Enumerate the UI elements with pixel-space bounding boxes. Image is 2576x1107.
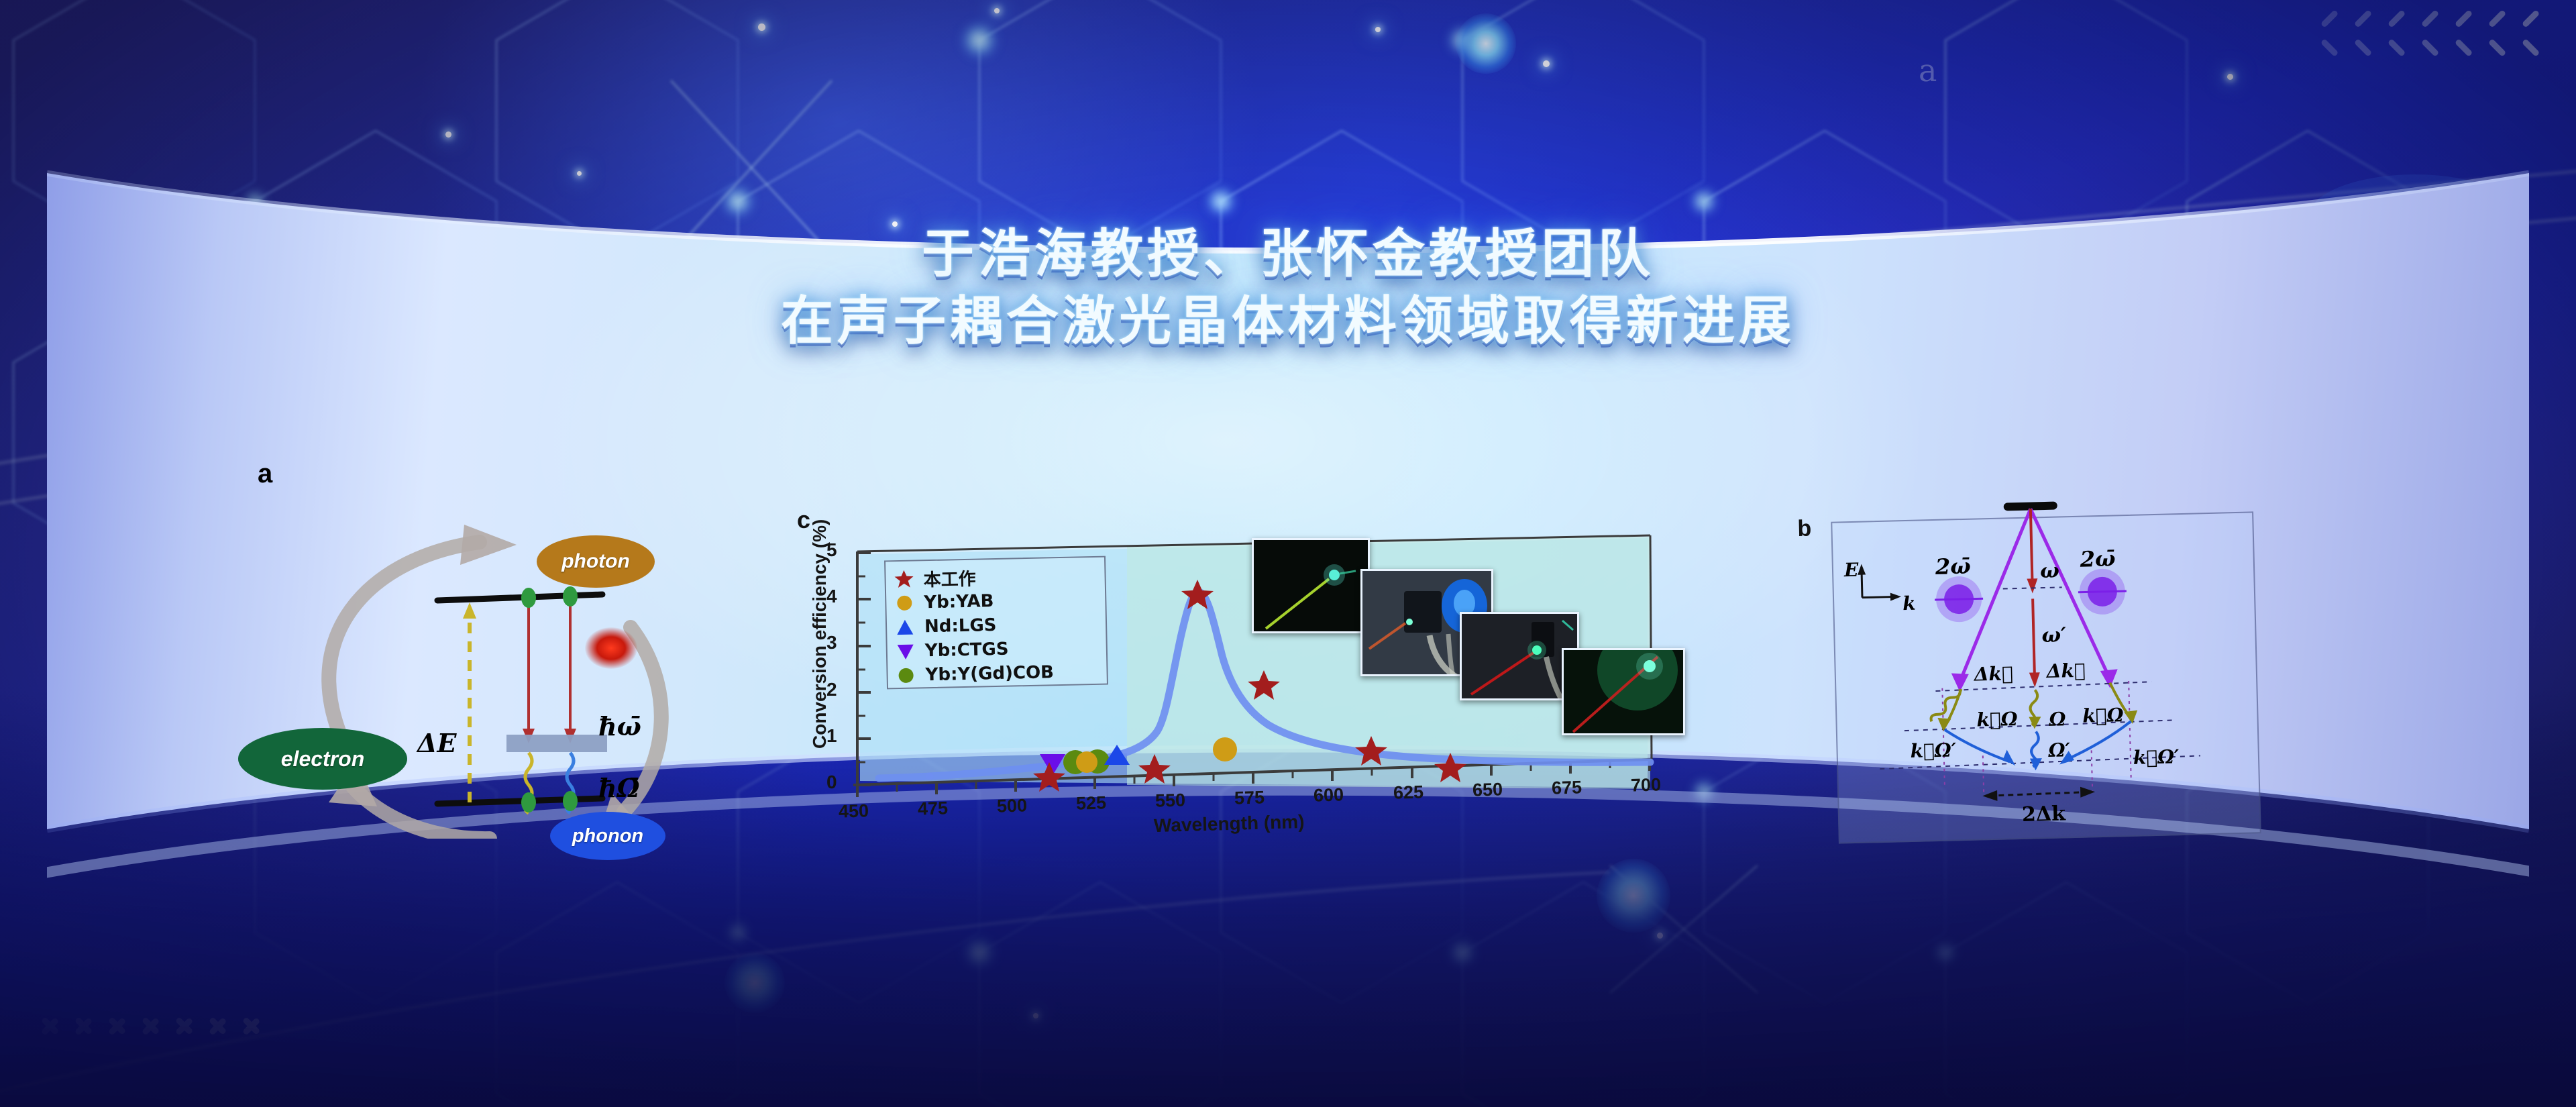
star-marker-icon (894, 569, 914, 590)
chevron-left-icon (2387, 15, 2410, 54)
sparkle (1033, 1013, 1038, 1018)
panel-b-omega: ω (2040, 559, 2059, 583)
chevron-left-icon (2487, 15, 2510, 54)
x-tick-575: 575 (1234, 787, 1265, 808)
panel-a: a (201, 463, 724, 839)
chevron-row-top-right (2320, 15, 2544, 54)
x-tick-675: 675 (1552, 777, 1582, 798)
delta-e-label: ΔE (417, 728, 456, 758)
glow-node (724, 953, 785, 1013)
x-tick-600: 600 (1313, 784, 1344, 806)
chart-x-axis-label: Wavelength (nm) (1154, 811, 1305, 837)
y-tick-4: 4 (826, 586, 837, 607)
triangle-up-marker-icon (895, 617, 916, 638)
panel-b-2omega-left: 2ω̄ (1935, 553, 1971, 580)
panel-b-k-OmegaPrime-right: k⃖Ω′ (2133, 745, 2180, 769)
photon-ellipse-label: photon (537, 535, 655, 588)
panel-b-axis-k: k (1902, 592, 1916, 615)
glow-node (1597, 859, 1670, 933)
y-tick-3: 3 (826, 632, 837, 653)
chart-legend: 本工作 Yb:YAB Nd:LGS Yb:CTGS Yb:Y(G (884, 556, 1108, 690)
ghost-panel-letter-a: a (1919, 52, 1937, 89)
chevron-right-icon (141, 1008, 164, 1047)
sparkle (892, 221, 898, 227)
x-tick-525: 525 (1076, 792, 1107, 814)
panel-b-Omega-prime: Ω′ (2048, 739, 2070, 761)
electron-label: electron (281, 747, 364, 772)
legend-item: Yb:Y(Gd)COB (896, 660, 1099, 688)
panel-b-axis-E: E (1844, 559, 1859, 582)
panel-b-k-OmegaPrime-left: k⃗Ω′ (1910, 739, 1956, 762)
sparkle (445, 131, 451, 138)
sparkle (1375, 27, 1381, 32)
circle-marker-icon (894, 593, 915, 614)
legend-label: 本工作 (923, 565, 976, 591)
chevron-right-icon (40, 1008, 63, 1047)
phonon-ellipse-label: phonon (550, 812, 665, 860)
legend-label: Yb:CTGS (925, 639, 1009, 662)
circle-marker-icon (896, 666, 916, 686)
panel-b-2omega-right: 2ω̄ (2080, 545, 2116, 572)
chevron-left-icon (2420, 15, 2443, 54)
sparkle (1543, 60, 1550, 67)
x-tick-500: 500 (997, 795, 1028, 816)
chevron-left-icon (2320, 15, 2343, 54)
panel-b-Omega: Ω (2049, 708, 2066, 731)
panel-b-k-Omega-right: k⃗Ω (2082, 704, 2124, 727)
panel-b-letter: b (1797, 515, 1812, 541)
phonon-label: phonon (572, 825, 643, 847)
x-tick-700: 700 (1631, 774, 1662, 796)
panel-b-2delta-k: 2Δk (2022, 802, 2066, 827)
chevron-right-icon (74, 1008, 97, 1047)
panel-b-omega-prime: ω′ (2041, 623, 2066, 647)
chevron-right-icon (208, 1008, 231, 1047)
chevron-row-bottom-left (40, 1008, 264, 1047)
legend-label: Nd:LGS (924, 615, 997, 637)
photon-label: photon (561, 550, 630, 573)
chevron-left-icon (2353, 15, 2376, 54)
electron-ellipse-label: electron (238, 728, 407, 790)
sparkle (2227, 74, 2233, 80)
legend-label: Yb:Y(Gd)COB (925, 662, 1054, 685)
chevron-left-icon (2454, 15, 2477, 54)
x-tick-625: 625 (1393, 782, 1424, 803)
panel-c-chart: c Conversion efficiency (%) (778, 510, 1784, 845)
y-tick-2: 2 (826, 679, 837, 700)
legend-label: Yb:YAB (924, 591, 994, 613)
y-tick-5: 5 (826, 539, 837, 561)
sparkle (994, 8, 1000, 13)
panel-b-delta-k-left: Δk⃖ (1974, 662, 2013, 685)
x-tick-650: 650 (1472, 779, 1503, 800)
x-tick-550: 550 (1155, 790, 1186, 811)
h-omega-label: ħω̄ (598, 711, 641, 741)
panel-b-k-Omega-left: k⃖Ω (1976, 708, 2018, 731)
x-tick-450: 450 (839, 800, 869, 822)
inset-photo-green-beam-scatter (1562, 648, 1685, 735)
chevron-right-icon (241, 1008, 264, 1047)
y-tick-0: 0 (826, 772, 837, 793)
chevron-right-icon (174, 1008, 197, 1047)
sparkle (577, 171, 582, 176)
glow-node (1456, 13, 1516, 74)
y-tick-1: 1 (826, 725, 837, 747)
panel-b: b (1831, 511, 2261, 843)
sparkle (1657, 933, 1663, 939)
triangle-down-marker-icon (896, 641, 916, 662)
chevron-right-icon (107, 1008, 130, 1047)
h-Omega-label: ħΩ̄ (598, 773, 639, 803)
sparkle (758, 23, 765, 31)
photon-burst-icon (585, 627, 637, 669)
chevron-left-icon (2521, 15, 2544, 54)
panel-b-delta-k-right: Δk⃗ (2046, 660, 2086, 682)
inset-photo-green-laser-beam-dark (1252, 538, 1370, 633)
x-tick-475: 475 (918, 798, 949, 819)
banner-poster: a photon ħω̄ ħΩ̄ electron ΔE phonon 于浩 (0, 0, 2576, 1107)
